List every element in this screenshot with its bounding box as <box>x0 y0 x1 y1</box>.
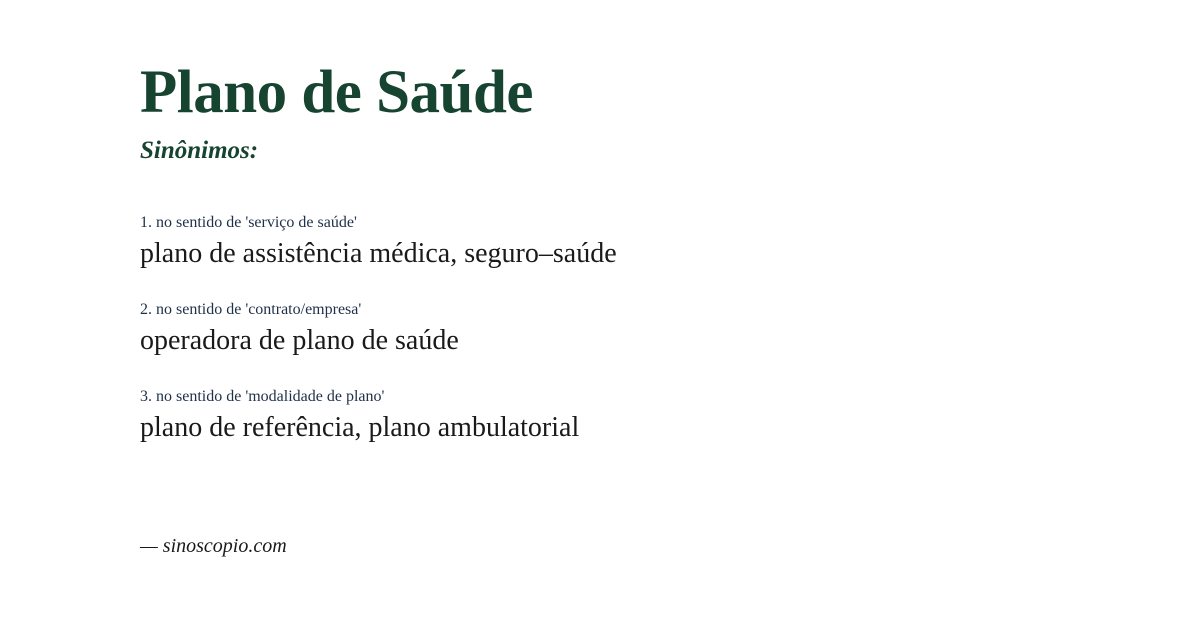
synonym-text: plano de assistência médica, seguro–saúd… <box>140 237 1160 270</box>
source-attribution: — sinoscopio.com <box>140 534 287 558</box>
synonym-card: Plano de Saúde Sinônimos: 1. no sentido … <box>0 0 1200 628</box>
list-item: 1. no sentido de 'serviço de saúde' plan… <box>140 213 1160 270</box>
sense-label: 1. no sentido de 'serviço de saúde' <box>140 213 1160 233</box>
synonym-list: 1. no sentido de 'serviço de saúde' plan… <box>140 213 1160 444</box>
list-item: 3. no sentido de 'modalidade de plano' p… <box>140 387 1160 444</box>
card-content: Plano de Saúde Sinônimos: 1. no sentido … <box>140 62 1160 444</box>
page-subtitle: Sinônimos: <box>140 138 1160 163</box>
list-item: 2. no sentido de 'contrato/empresa' oper… <box>140 300 1160 357</box>
sense-label: 3. no sentido de 'modalidade de plano' <box>140 387 1160 407</box>
page-title: Plano de Saúde <box>140 62 1160 123</box>
synonym-text: operadora de plano de saúde <box>140 324 1160 357</box>
sense-label: 2. no sentido de 'contrato/empresa' <box>140 300 1160 320</box>
synonym-text: plano de referência, plano ambulatorial <box>140 411 1160 444</box>
